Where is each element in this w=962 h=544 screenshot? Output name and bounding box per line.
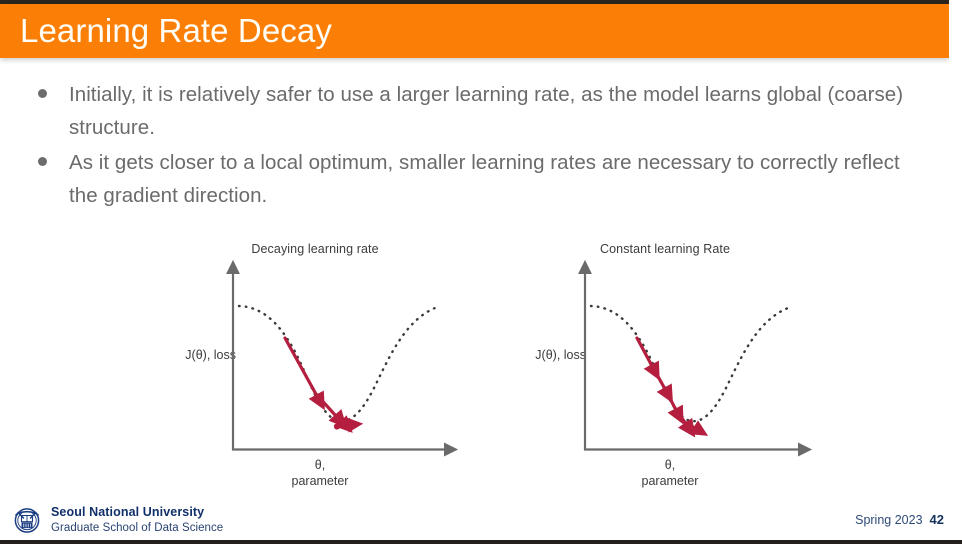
bullet-text: Initially, it is relatively safer to use… [69, 78, 918, 144]
organization-unit: Graduate School of Data Science [51, 523, 223, 535]
page-number: 42 [930, 512, 944, 527]
seoul-national-university-seal-icon [10, 503, 44, 537]
bullet-dot-icon [38, 89, 47, 98]
list-item: As it gets closer to a local optimum, sm… [28, 146, 918, 212]
title-banner-right-margin [949, 0, 962, 62]
footer-meta: Spring 202342 [855, 512, 944, 527]
slide: Learning Rate Decay Initially, it is rel… [0, 0, 962, 544]
list-item: Initially, it is relatively safer to use… [28, 78, 918, 144]
loss-curve-dotted [239, 306, 435, 421]
bullet-list: Initially, it is relatively safer to use… [28, 78, 918, 214]
organization-name: Seoul National University [51, 506, 223, 519]
slide-bottom-edge [0, 540, 962, 544]
bullet-dot-icon [38, 157, 47, 166]
page-title: Learning Rate Decay [20, 12, 332, 50]
university-logo-block: Seoul National University Graduate Schoo… [10, 503, 223, 537]
figure-decaying-learning-rate: Decaying learning rate J(θ), loss θ, par… [150, 236, 480, 496]
gradient-descent-path [637, 338, 695, 428]
loss-curve-dotted [591, 306, 788, 421]
figure-plot-area [150, 236, 480, 496]
term-label: Spring 2023 [855, 513, 922, 527]
title-banner: Learning Rate Decay [0, 4, 949, 58]
figure-constant-learning-rate: Constant learning Rate J(θ), loss θ, par… [500, 236, 830, 496]
university-logo-text: Seoul National University Graduate Schoo… [51, 506, 223, 534]
figure-plot-area [500, 236, 830, 496]
bullet-text: As it gets closer to a local optimum, sm… [69, 146, 918, 212]
